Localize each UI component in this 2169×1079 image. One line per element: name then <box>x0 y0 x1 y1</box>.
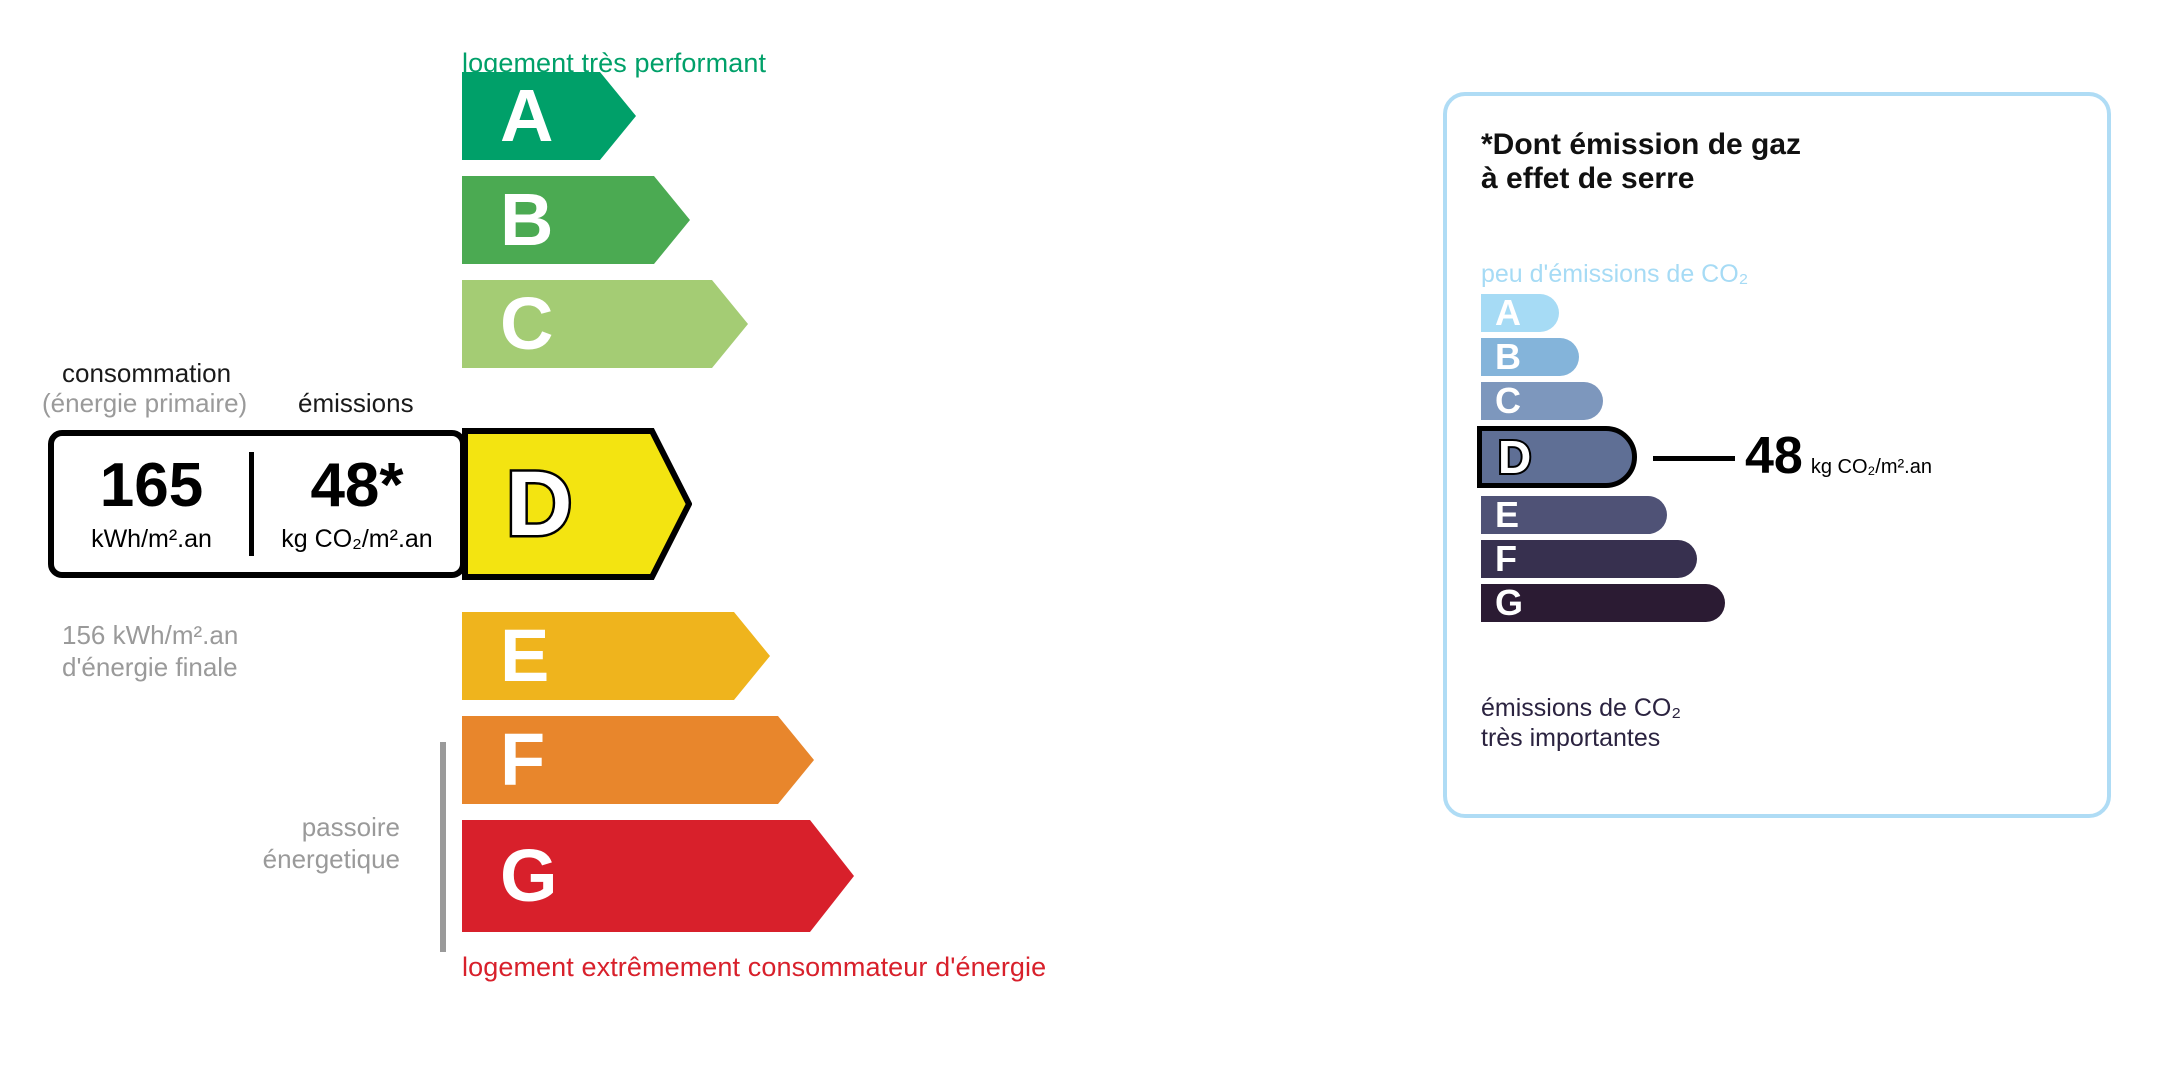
co2-emission-panel: *Dont émission de gaz à effet de serre p… <box>1443 92 2111 818</box>
co2-panel-title-line2: à effet de serre <box>1481 162 1694 196</box>
energy-bar-letter-c: C <box>500 287 553 361</box>
co2-bar-letter-c: C <box>1495 383 1521 419</box>
energy-bar-g: G <box>462 820 854 932</box>
co2-bar-letter-a: A <box>1495 295 1521 331</box>
co2-bar-letter-d: D <box>1498 434 1531 480</box>
co2-bar-letter-f: F <box>1495 541 1517 577</box>
passoire-bracket-rule <box>440 742 446 952</box>
energy-consumption-scale: logement très performant A B C D <box>0 0 1400 1079</box>
co2-bar-a: A <box>1481 294 1559 332</box>
co2-bar-e: E <box>1481 496 1667 534</box>
co2-value: 48kg CO₂/m².an <box>1745 430 1932 482</box>
consumption-sublabel: (énergie primaire) <box>42 388 247 419</box>
co2-bar-b: B <box>1481 338 1579 376</box>
co2-bar-c: C <box>1481 382 1603 420</box>
energy-bar-letter-e: E <box>500 619 549 693</box>
energy-bar-b: B <box>462 176 690 264</box>
value-box: 165 kWh/m².an 48* kg CO₂/m².an <box>48 430 466 578</box>
energy-bar-d-selected: D <box>462 428 692 580</box>
primary-energy-cell: 165 kWh/m².an <box>54 436 249 572</box>
co2-value-connector-line <box>1653 456 1735 461</box>
co2-bottom-caption-line1: émissions de CO₂ <box>1481 694 1681 723</box>
co2-value-number: 48 <box>1745 427 1803 485</box>
energy-bottom-caption: logement extrêmement consommateur d'éner… <box>462 952 1046 983</box>
dpe-energy-label: logement très performant A B C D <box>0 0 2169 1079</box>
emission-value: 48* <box>310 455 403 517</box>
primary-energy-value: 165 <box>100 455 203 517</box>
primary-energy-unit: kWh/m².an <box>91 525 212 554</box>
co2-bottom-caption-line2: très importantes <box>1481 724 1660 753</box>
energy-bar-letter-g: G <box>500 839 558 913</box>
passoire-label-line2: énergetique <box>0 844 400 875</box>
passoire-label-line1: passoire <box>0 812 400 843</box>
energy-bar-f: F <box>462 716 814 804</box>
energy-bar-letter-a: A <box>500 79 553 153</box>
energy-bar-letter-f: F <box>500 723 545 797</box>
energy-bar-letter-d: D <box>506 458 572 550</box>
co2-value-unit: kg CO₂/m².an <box>1811 456 1932 478</box>
energy-bar-e: E <box>462 612 770 700</box>
co2-top-caption: peu d'émissions de CO₂ <box>1481 260 1748 289</box>
co2-bar-letter-e: E <box>1495 497 1519 533</box>
emission-cell: 48* kg CO₂/m².an <box>254 436 460 572</box>
co2-bar-g: G <box>1481 584 1725 622</box>
co2-bar-letter-g: G <box>1495 585 1523 621</box>
co2-bar-f: F <box>1481 540 1697 578</box>
co2-bar-letter-b: B <box>1495 339 1521 375</box>
energy-bar-letter-b: B <box>500 183 553 257</box>
final-energy-line1: 156 kWh/m².an <box>62 620 238 651</box>
co2-bar-d-selected: D <box>1477 426 1637 488</box>
emissions-label: émissions <box>298 388 414 419</box>
final-energy-line2: d'énergie finale <box>62 652 238 683</box>
energy-bar-c: C <box>462 280 748 368</box>
energy-bar-a: A <box>462 72 636 160</box>
co2-panel-title-line1: *Dont émission de gaz <box>1481 128 1801 162</box>
emission-unit: kg CO₂/m².an <box>281 525 432 554</box>
consumption-label: consommation <box>62 358 231 389</box>
